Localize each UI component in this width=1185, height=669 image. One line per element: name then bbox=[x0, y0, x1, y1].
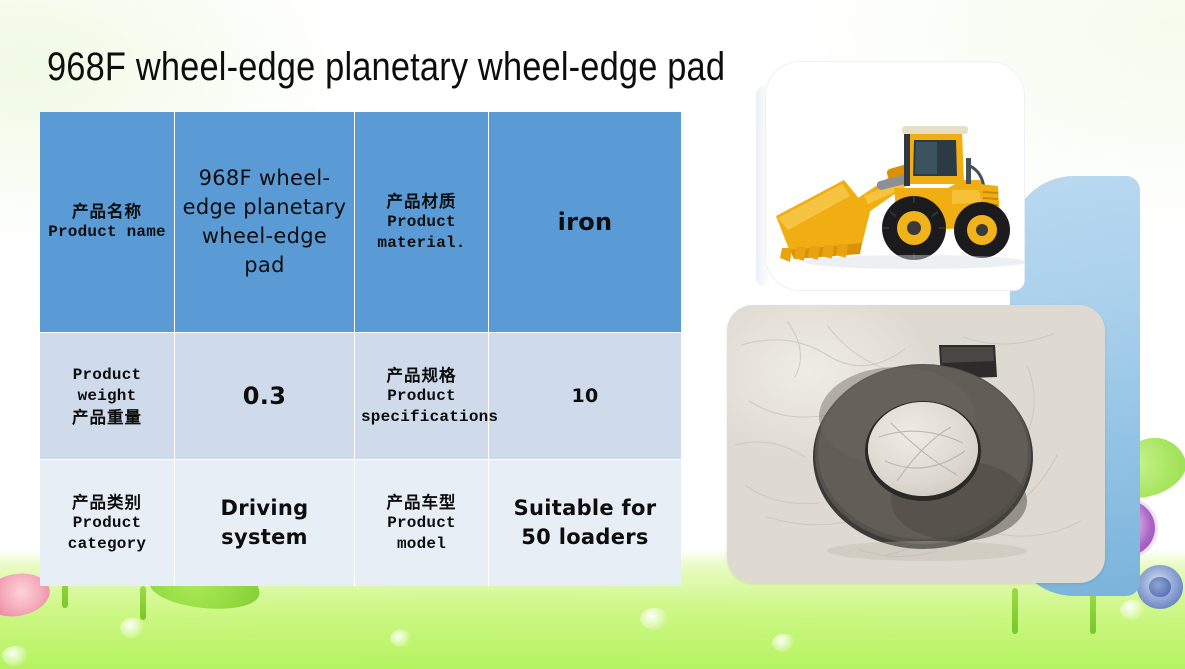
cell-product-specifications-label: 产品规格 Product specifications bbox=[355, 333, 489, 460]
part-photo bbox=[727, 305, 1105, 583]
cell-product-material-value: iron bbox=[489, 112, 681, 333]
label-cn: 产品名称 bbox=[46, 201, 168, 222]
table-row: 产品名称 Product name 968F wheel-edge planet… bbox=[40, 112, 681, 333]
bokeh-dot bbox=[2, 646, 30, 666]
label-en: specifications bbox=[361, 407, 482, 428]
cell-product-material-label: 产品材质 Product material. bbox=[355, 112, 489, 333]
blue-flower-icon bbox=[1137, 565, 1183, 609]
label-en: Product bbox=[361, 386, 482, 407]
label-en: Product model bbox=[361, 513, 482, 555]
cell-product-weight-value: 0.3 bbox=[175, 333, 355, 460]
wheel-loader-icon bbox=[766, 62, 1024, 290]
plant-stem bbox=[1012, 588, 1018, 634]
bokeh-dot bbox=[390, 630, 412, 647]
slide-canvas: 968F wheel-edge planetary wheel-edge pad bbox=[0, 0, 1185, 669]
table-row: Product weight 产品重量 0.3 产品规格 Product spe… bbox=[40, 333, 681, 460]
bokeh-dot bbox=[772, 634, 796, 652]
label-en: Product weight bbox=[46, 365, 168, 407]
label-en: category bbox=[46, 534, 168, 555]
cell-product-name-label: 产品名称 Product name bbox=[40, 112, 175, 333]
cell-product-category-label: 产品类别 Product category bbox=[40, 460, 175, 586]
spec-table: 产品名称 Product name 968F wheel-edge planet… bbox=[40, 112, 681, 586]
loader-photo bbox=[766, 62, 1024, 290]
table-row: 产品类别 Product category Driving system 产品车… bbox=[40, 460, 681, 586]
page-title: 968F wheel-edge planetary wheel-edge pad bbox=[47, 42, 804, 92]
plant-stem bbox=[140, 586, 146, 620]
label-cn: 产品车型 bbox=[361, 492, 482, 513]
plant-stem bbox=[1090, 590, 1096, 634]
cell-product-model-label: 产品车型 Product model bbox=[355, 460, 489, 586]
bokeh-dot bbox=[640, 608, 670, 630]
cell-product-weight-label: Product weight 产品重量 bbox=[40, 333, 175, 460]
cell-product-specifications-value: 10 bbox=[489, 333, 681, 460]
label-en: Product bbox=[46, 513, 168, 534]
label-en: Product bbox=[361, 212, 482, 233]
label-cn: 产品规格 bbox=[361, 365, 482, 386]
label-en: Product name bbox=[46, 222, 168, 243]
bokeh-dot bbox=[1120, 600, 1146, 620]
cell-product-category-value: Driving system bbox=[175, 460, 355, 586]
label-cn: 产品重量 bbox=[46, 407, 168, 428]
cell-product-model-value: Suitable for 50 loaders bbox=[489, 460, 681, 586]
label-cn: 产品材质 bbox=[361, 191, 482, 212]
thrust-washer-pad-icon bbox=[727, 305, 1105, 583]
label-cn: 产品类别 bbox=[46, 492, 168, 513]
cell-product-name-value: 968F wheel-edge planetary wheel-edge pad bbox=[175, 112, 355, 333]
label-en: material. bbox=[361, 233, 482, 254]
bokeh-dot bbox=[120, 618, 146, 638]
